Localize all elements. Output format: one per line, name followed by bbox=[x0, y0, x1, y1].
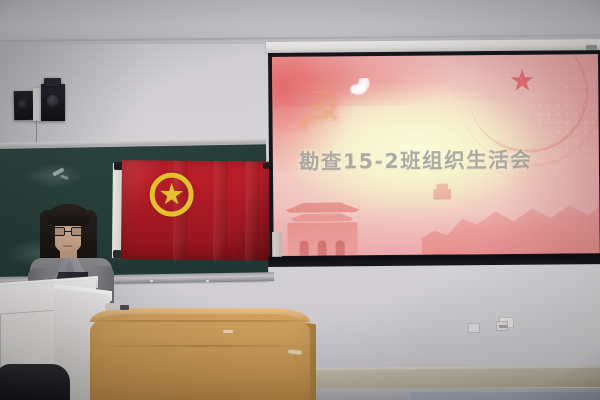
flag-fold bbox=[213, 161, 228, 260]
flag-field bbox=[121, 160, 271, 261]
wooden-podium bbox=[90, 314, 310, 400]
wall-outlet-plate-right bbox=[496, 321, 508, 331]
slide-title-text: 勘查15-2班组织生活会 bbox=[299, 142, 579, 174]
mouth bbox=[63, 245, 72, 247]
hair-bangs bbox=[47, 204, 90, 226]
glasses-lens-right bbox=[71, 227, 85, 236]
glasses-lens-left bbox=[51, 227, 65, 236]
podium-edge-line bbox=[95, 320, 305, 322]
flag-fold bbox=[245, 161, 260, 260]
tray-highlight bbox=[206, 280, 209, 282]
projection-screen-surface[interactable]: ☭ 勘查15-2班组织生活会 bbox=[272, 54, 600, 256]
podium-scuff bbox=[223, 330, 233, 333]
classroom-scene: ☭ 勘查15-2班组织生活会 bbox=[0, 0, 600, 400]
communist-youth-league-flag bbox=[112, 158, 271, 260]
speaker-cone-right bbox=[47, 95, 59, 107]
great-wall-tower bbox=[433, 183, 451, 199]
hammer-and-sickle-icon: ☭ bbox=[294, 82, 343, 140]
wainscot-band bbox=[296, 368, 600, 389]
podium-seam-line bbox=[92, 345, 308, 347]
speaker-bracket bbox=[33, 88, 41, 121]
screen-side-tab bbox=[272, 232, 282, 258]
speaker-top-module bbox=[44, 78, 61, 86]
glasses-icon bbox=[50, 227, 86, 236]
item-on-podium bbox=[105, 303, 121, 311]
slide-bottom-wash bbox=[272, 209, 600, 256]
floor-blue-edge bbox=[410, 392, 600, 400]
speaker-cone-left bbox=[18, 100, 27, 109]
wall-outlet-plate-left bbox=[468, 323, 480, 333]
dark-object-foreground bbox=[0, 364, 70, 400]
tray-highlight bbox=[150, 280, 153, 282]
small-item-on-podium bbox=[120, 305, 129, 310]
dove-icon bbox=[350, 78, 372, 96]
